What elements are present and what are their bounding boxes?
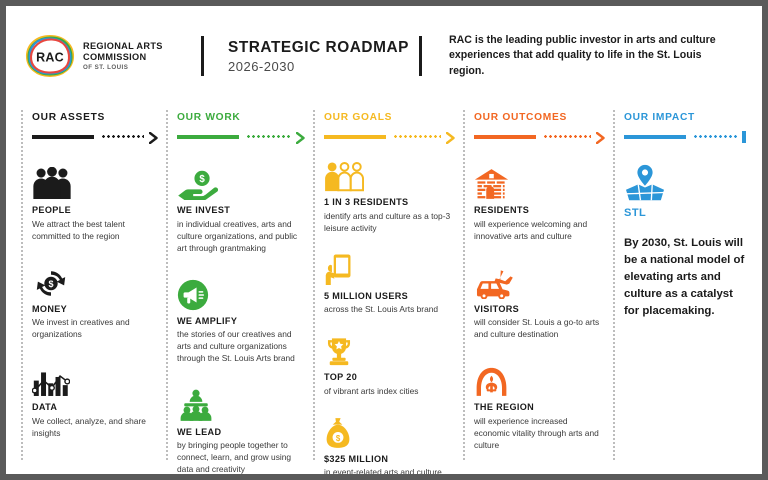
column-rule-outcomes: [474, 130, 605, 143]
item-desc: by bringing people together to connect, …: [177, 439, 305, 474]
column-outcomes: OUR OUTCOMES: [474, 106, 613, 474]
rule-end-bar: [742, 131, 746, 143]
mission-statement: RAC is the leading public investor in ar…: [422, 33, 722, 78]
title-block: STRATEGIC ROADMAP 2026-2030: [204, 39, 419, 74]
item-one-in-three: 1 IN 3 RESIDENTS identify arts and cultu…: [324, 154, 455, 234]
people-presentation-icon: [177, 378, 305, 422]
column-separator: [613, 110, 615, 460]
item-title: $325 MILLION: [324, 454, 455, 464]
column-rule-assets: [32, 130, 158, 143]
column-rule-impact: [624, 130, 746, 143]
roadmap-columns: OUR ASSETS PEOPLE We at: [6, 106, 762, 474]
item-residents: RESIDENTS will experience welcoming and …: [474, 156, 605, 242]
megaphone-icon: [177, 267, 305, 311]
map-pin-stl-icon: [624, 156, 746, 202]
item-we-lead: WE LEAD by bringing people together to c…: [177, 378, 305, 474]
column-impact: OUR IMPACT STL By 2030, St. Louis will b…: [624, 106, 754, 474]
infographic-page: RAC REGIONAL ARTS COMMISSION OF ST. LOUI…: [6, 6, 762, 474]
item-title: 5 MILLION USERS: [324, 291, 455, 301]
hand-holding-coin-icon: $: [177, 156, 305, 200]
column-rule-goals: [324, 130, 455, 143]
item-money: $ MONEY We invest in creatives and organ…: [32, 255, 158, 341]
item-desc: will experience increased economic vital…: [474, 415, 605, 451]
rule-dots: [543, 135, 591, 138]
trophy-icon: [324, 329, 455, 367]
rule-solid: [177, 135, 239, 139]
rule-solid: [32, 135, 94, 139]
logo-line-1: REGIONAL ARTS: [83, 41, 163, 52]
page-title: STRATEGIC ROADMAP: [228, 39, 419, 57]
item-title: PEOPLE: [32, 205, 158, 215]
item-title: MONEY: [32, 304, 158, 314]
column-separator: [313, 110, 315, 460]
column-heading-impact: OUR IMPACT: [624, 112, 746, 123]
item-people: PEOPLE We attract the best talent commit…: [32, 156, 158, 242]
item-title: WE INVEST: [177, 205, 305, 215]
column-heading-work: OUR WORK: [177, 112, 305, 123]
item-the-region: THE REGION will experience increased eco…: [474, 353, 605, 451]
item-desc: in event-related arts and culture audien…: [324, 466, 455, 474]
item-title: WE LEAD: [177, 427, 305, 437]
data-chart-icon: [32, 353, 158, 397]
one-in-three-people-icon: [324, 154, 455, 192]
svg-text:$: $: [199, 174, 205, 185]
rule-dots: [693, 135, 737, 138]
money-bag-icon: $: [324, 411, 455, 449]
item-desc: We collect, analyze, and share insights: [32, 415, 158, 439]
item-we-invest: $ WE INVEST in individual creatives, art…: [177, 156, 305, 254]
item-title: VISITORS: [474, 304, 605, 314]
column-separator: [463, 110, 465, 460]
item-desc: of vibrant arts index cities: [324, 385, 455, 397]
svg-text:$: $: [336, 434, 341, 443]
column-heading-assets: OUR ASSETS: [32, 112, 158, 123]
item-title: THE REGION: [474, 402, 605, 412]
item-title: TOP 20: [324, 372, 455, 382]
item-desc: in individual creatives, arts and cultur…: [177, 218, 305, 254]
rac-logo: RAC REGIONAL ARTS COMMISSION OF ST. LOUI…: [6, 33, 201, 79]
arrow-right-icon: [296, 131, 305, 143]
rule-dots: [101, 135, 144, 138]
item-desc: will experience welcoming and innovative…: [474, 218, 605, 242]
item-desc: We invest in creatives and organizations: [32, 316, 158, 340]
item-desc: will consider St. Louis a go-to arts and…: [474, 316, 605, 340]
item-title: 1 IN 3 RESIDENTS: [324, 197, 455, 207]
car-plane-travel-icon: [474, 255, 605, 299]
logo-line-3: OF ST. LOUIS: [83, 64, 163, 71]
money-cycle-icon: $: [32, 255, 158, 299]
column-heading-outcomes: OUR OUTCOMES: [474, 112, 605, 123]
column-separator: [166, 110, 168, 460]
column-work: OUR WORK $ WE INVEST in individual cr: [177, 106, 313, 474]
item-top-20: TOP 20 of vibrant arts index cities: [324, 329, 455, 397]
column-separator: [21, 110, 23, 460]
item-stl-impact: STL By 2030, St. Louis will be a nationa…: [624, 156, 746, 321]
rule-dots: [246, 135, 291, 138]
hand-holding-phone-icon: [324, 248, 455, 286]
svg-text:$: $: [48, 279, 53, 289]
svg-text:RAC: RAC: [36, 51, 64, 65]
item-desc: We attract the best talent committed to …: [32, 218, 158, 242]
item-desc: across the St. Louis Arts brand: [324, 303, 455, 315]
rule-solid: [474, 135, 536, 139]
item-desc: identify arts and culture as a top-3 lei…: [324, 210, 455, 234]
brick-house-icon: [474, 156, 605, 200]
item-title: RESIDENTS: [474, 205, 605, 215]
item-five-million-users: 5 MILLION USERS across the St. Louis Art…: [324, 248, 455, 316]
page-subtitle: 2026-2030: [228, 59, 419, 74]
item-title: WE AMPLIFY: [177, 316, 305, 326]
column-rule-work: [177, 130, 305, 143]
gateway-arch-fleur-de-lis-icon: [474, 353, 605, 397]
logo-line-2: COMMISSION: [83, 52, 163, 63]
item-title: DATA: [32, 402, 158, 412]
rule-dots: [393, 135, 441, 138]
rac-logo-text: REGIONAL ARTS COMMISSION OF ST. LOUIS: [83, 41, 163, 71]
item-data: DATA We collect, analyze, and share insi…: [32, 353, 158, 439]
arrow-right-icon: [446, 131, 455, 143]
stl-label: STL: [624, 207, 746, 219]
impact-statement: By 2030, St. Louis will be a national mo…: [624, 235, 746, 321]
rule-solid: [324, 135, 386, 139]
item-desc: the stories of our creatives and arts an…: [177, 328, 305, 364]
people-group-icon: [32, 156, 158, 200]
item-visitors: VISITORS will consider St. Louis a go-to…: [474, 255, 605, 341]
column-heading-goals: OUR GOALS: [324, 112, 455, 123]
header: RAC REGIONAL ARTS COMMISSION OF ST. LOUI…: [6, 6, 762, 106]
column-assets: OUR ASSETS PEOPLE We at: [32, 106, 166, 474]
rac-logo-mark: RAC: [24, 33, 76, 79]
column-goals: OUR GOALS: [324, 106, 463, 474]
item-325-million: $ $325 MILLION in event-related arts and…: [324, 411, 455, 474]
rule-solid: [624, 135, 686, 139]
arrow-right-icon: [149, 131, 158, 143]
item-we-amplify: WE AMPLIFY the stories of our creatives …: [177, 267, 305, 365]
arrow-right-icon: [596, 131, 605, 143]
